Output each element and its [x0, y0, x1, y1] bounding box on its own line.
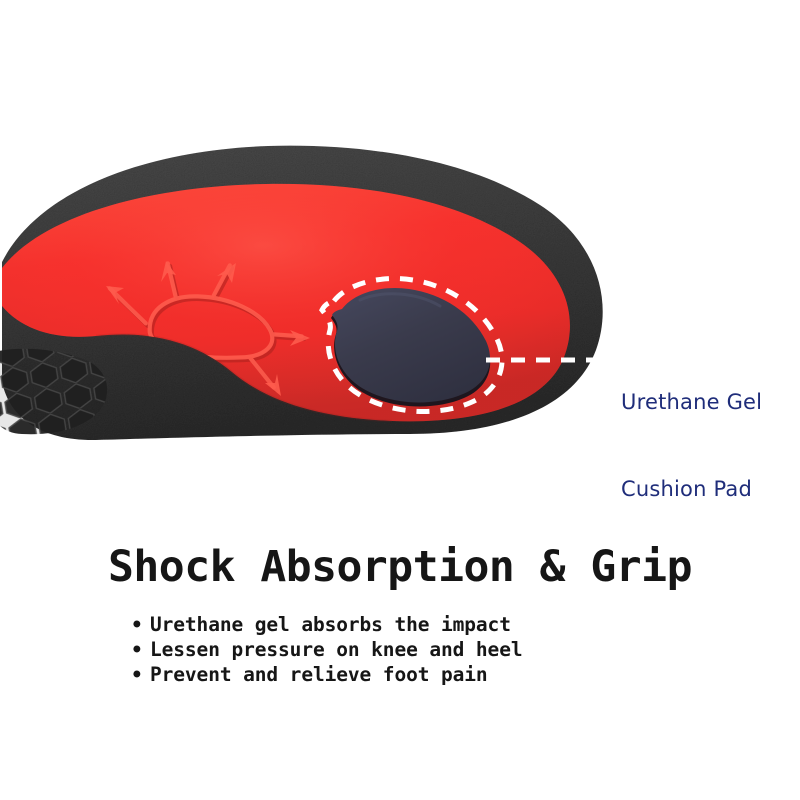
list-item-label: Lessen pressure on knee and heel	[150, 637, 522, 662]
bullet-dot-icon: •	[131, 637, 150, 662]
bullet-dot-icon: •	[131, 612, 150, 637]
list-item-label: Prevent and relieve foot pain	[150, 662, 488, 687]
bullet-dot-icon: •	[131, 662, 150, 687]
list-item: • Urethane gel absorbs the impact	[131, 612, 800, 637]
list-item-label: Urethane gel absorbs the impact	[150, 612, 511, 637]
callout-label-line1: Urethane Gel	[621, 388, 762, 417]
callout-label: Urethane Gel Cushion Pad	[621, 330, 762, 562]
feature-bullet-list: • Urethane gel absorbs the impact • Less…	[0, 612, 800, 687]
list-item: • Prevent and relieve foot pain	[131, 662, 800, 687]
list-item: • Lessen pressure on knee and heel	[131, 637, 800, 662]
callout-label-line2: Cushion Pad	[621, 475, 762, 504]
page-title: Shock Absorption & Grip	[0, 540, 800, 594]
infographic-canvas: Urethane Gel Cushion Pad Shock Absorptio…	[0, 0, 800, 800]
feature-text-block: Shock Absorption & Grip • Urethane gel a…	[0, 540, 800, 687]
